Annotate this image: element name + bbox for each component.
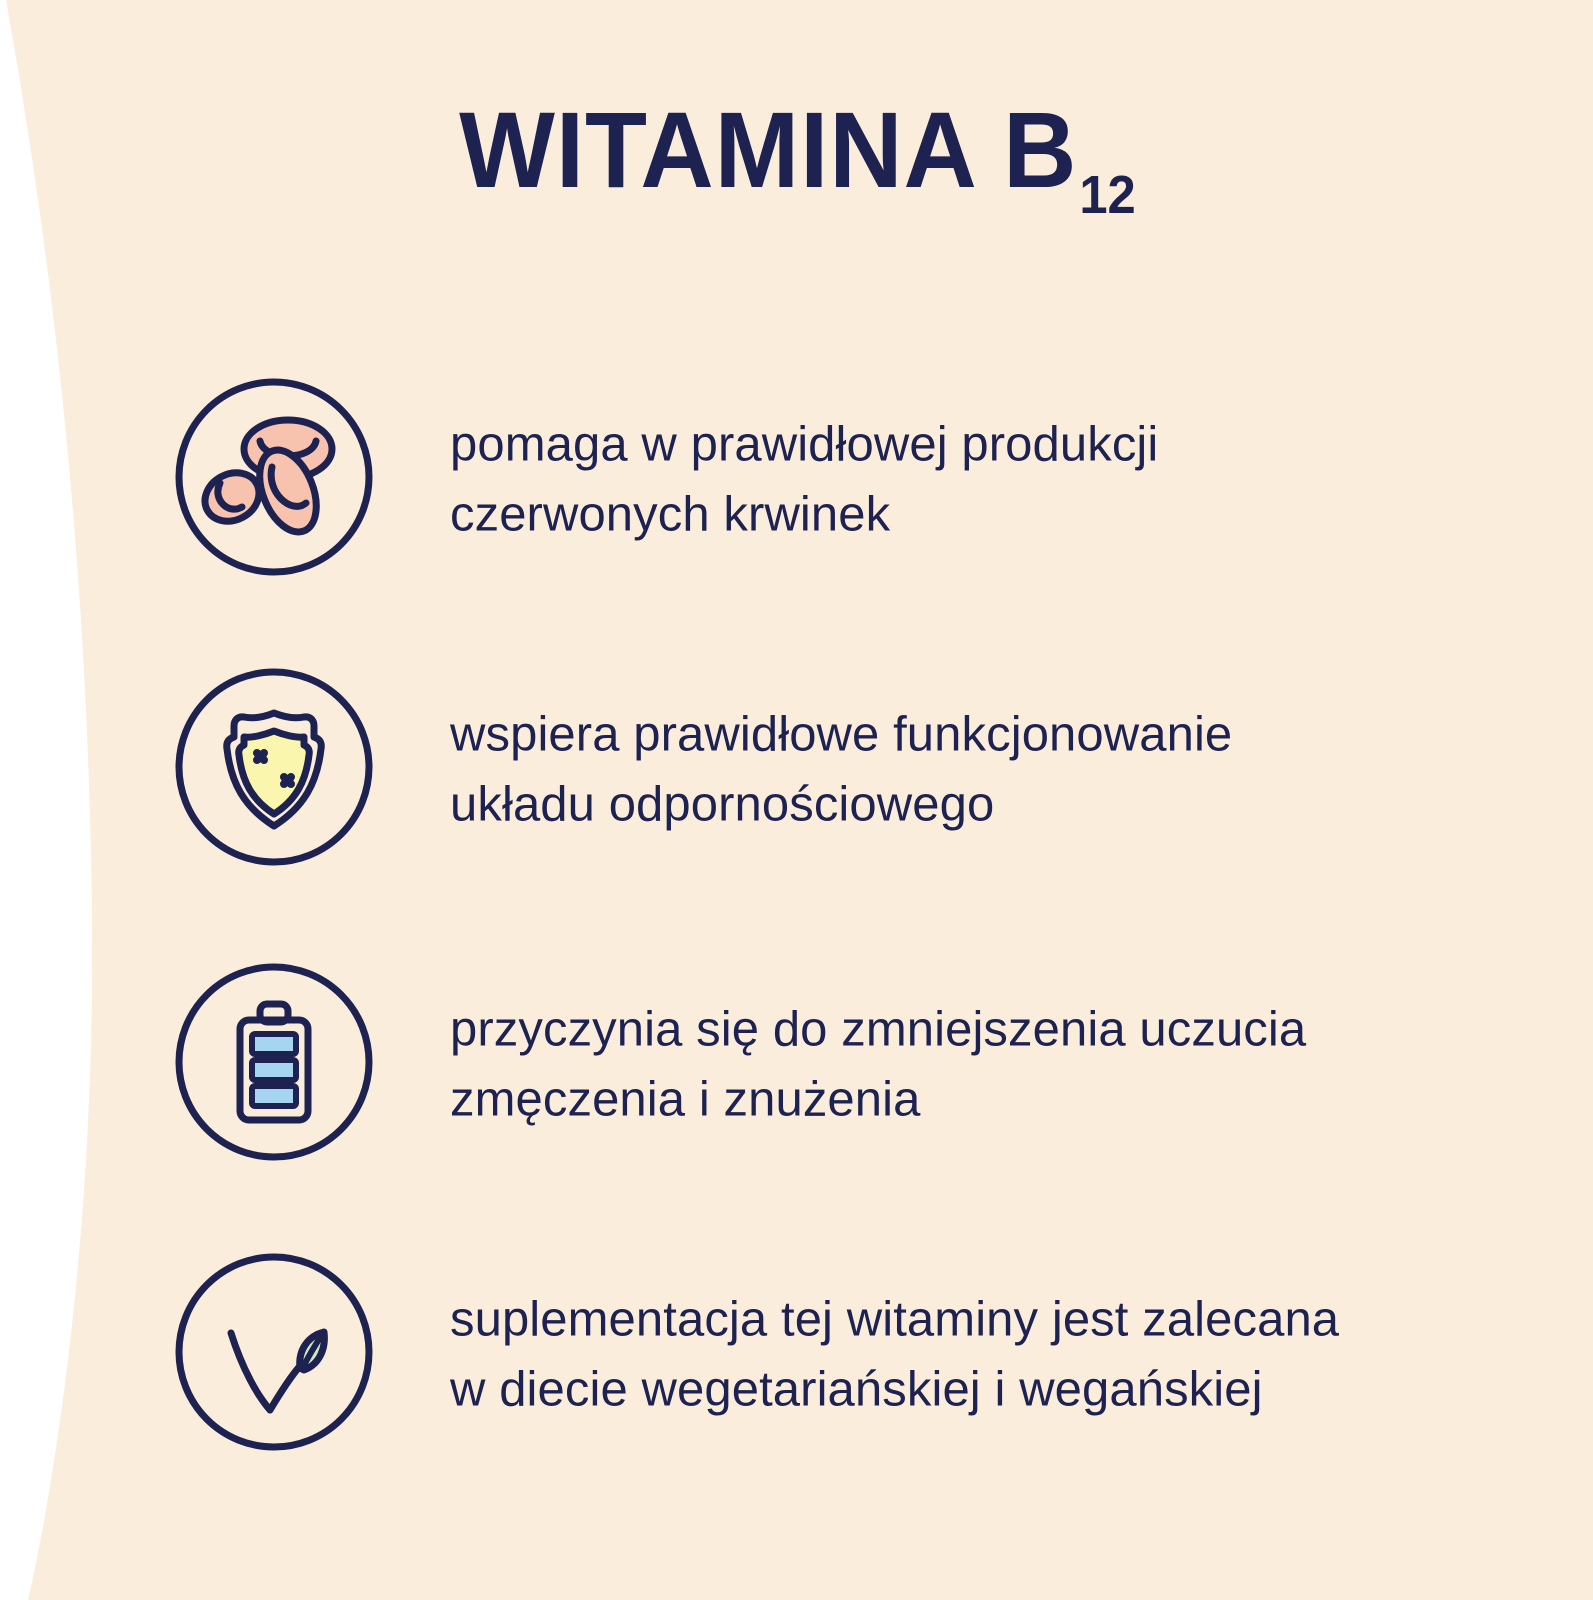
page-title-main: WITAMINA B: [459, 89, 1077, 210]
page-title: WITAMINA B12: [48, 96, 1545, 204]
benefit-text-fatigue: przyczynia się do zmniejszenia uczucia z…: [450, 995, 1306, 1134]
benefit-line-2: zmęczenia i znużenia: [450, 1065, 1306, 1135]
battery-icon: [172, 960, 376, 1164]
benefit-line-2: w diecie wegetariańskiej i wegańskiej: [450, 1355, 1339, 1425]
shield-icon: [172, 665, 376, 869]
benefit-row-fatigue: przyczynia się do zmniejszenia uczucia z…: [0, 960, 1593, 1170]
vegan-leaf-icon: [172, 1250, 376, 1454]
benefit-line-2: czerwonych krwinek: [450, 480, 1158, 550]
benefit-text-red-blood-cells: pomaga w prawidłowej produkcji czerwonyc…: [450, 410, 1158, 549]
benefit-row-immune-system: wspiera prawidłowe funkcjonowanie układu…: [0, 665, 1593, 875]
page-title-subscript: 12: [1079, 165, 1135, 225]
benefit-line-1: przyczynia się do zmniejszenia uczucia: [450, 995, 1306, 1065]
benefit-text-vegan: suplementacja tej witaminy jest zalecana…: [450, 1285, 1339, 1424]
benefit-row-red-blood-cells: pomaga w prawidłowej produkcji czerwonyc…: [0, 375, 1593, 585]
benefit-row-vegan: suplementacja tej witaminy jest zalecana…: [0, 1250, 1593, 1460]
vitamin-b12-infographic: WITAMINA B12 pomaga w prawi: [0, 0, 1593, 1600]
benefit-line-2: układu odpornościowego: [450, 770, 1232, 840]
benefit-line-1: pomaga w prawidłowej produkcji: [450, 410, 1158, 480]
benefit-text-immune-system: wspiera prawidłowe funkcjonowanie układu…: [450, 700, 1232, 839]
benefit-line-1: suplementacja tej witaminy jest zalecana: [450, 1285, 1339, 1355]
red-blood-cells-icon: [172, 375, 376, 579]
benefit-line-1: wspiera prawidłowe funkcjonowanie: [450, 700, 1232, 770]
